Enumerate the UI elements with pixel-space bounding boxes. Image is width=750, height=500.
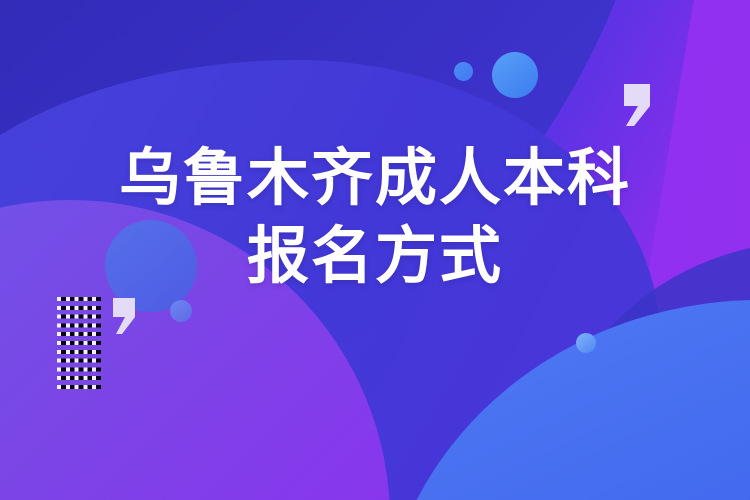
title-line-1: 乌鲁木齐成人本科 (119, 140, 631, 218)
banner-canvas: 乌鲁木齐成人本科 报名方式 (0, 0, 750, 500)
headline-block: 乌鲁木齐成人本科 报名方式 (0, 0, 750, 500)
title-line-2: 报名方式 (247, 218, 503, 296)
